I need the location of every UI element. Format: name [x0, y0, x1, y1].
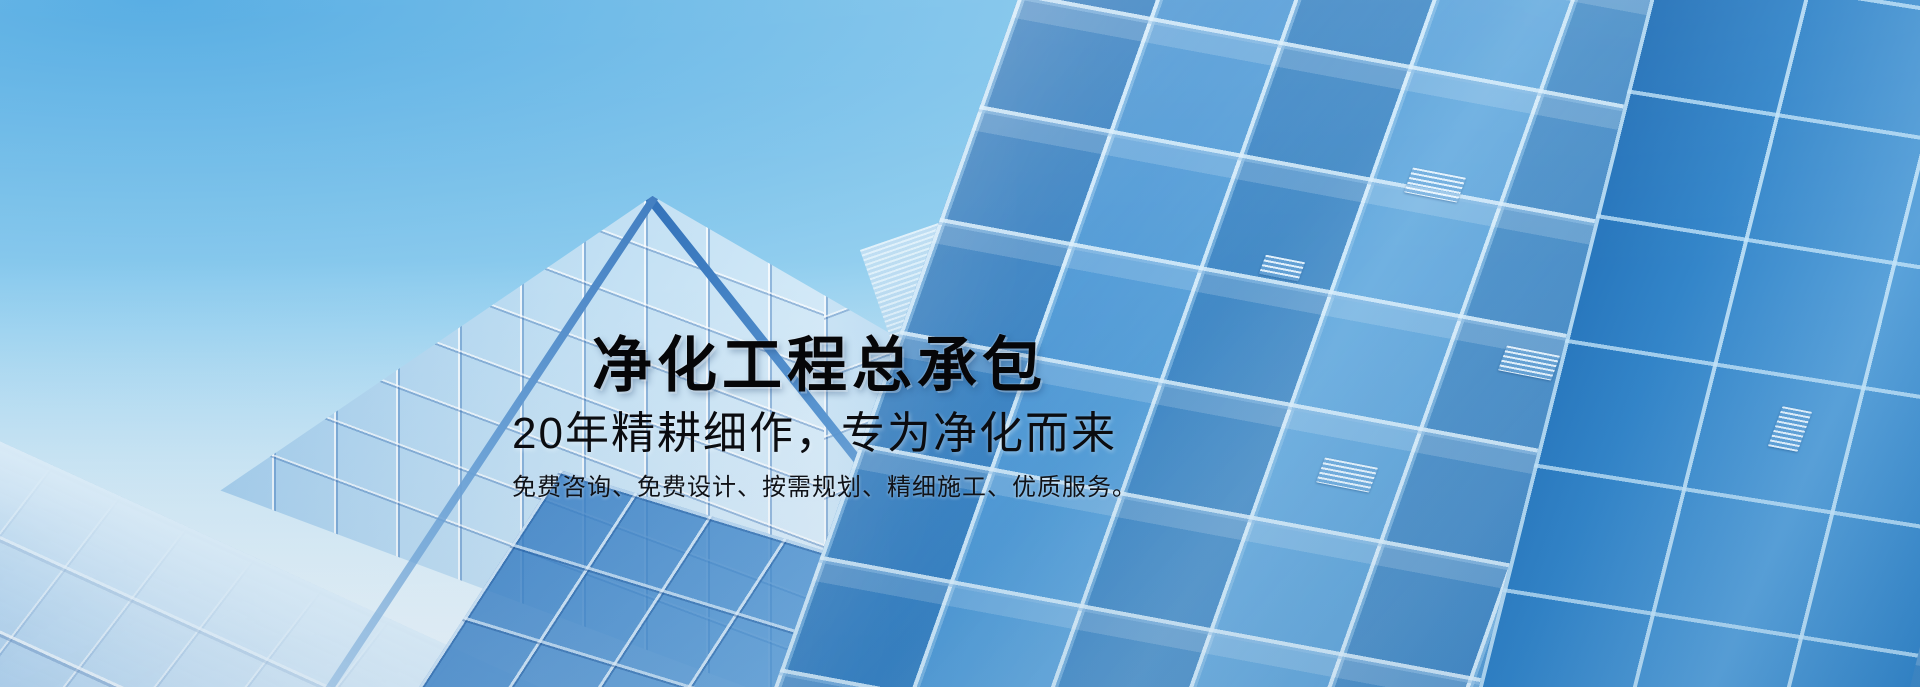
banner-headline: 净化工程总承包 — [592, 336, 1047, 396]
banner-subline: 20年精耕细作，专为净化而来 — [512, 412, 1117, 456]
banner-tagline: 免费咨询、免费设计、按需规划、精细施工、优质服务。 — [512, 476, 1137, 500]
hero-banner: 净化工程总承包 20年精耕细作，专为净化而来 免费咨询、免费设计、按需规划、精细… — [0, 0, 1920, 687]
